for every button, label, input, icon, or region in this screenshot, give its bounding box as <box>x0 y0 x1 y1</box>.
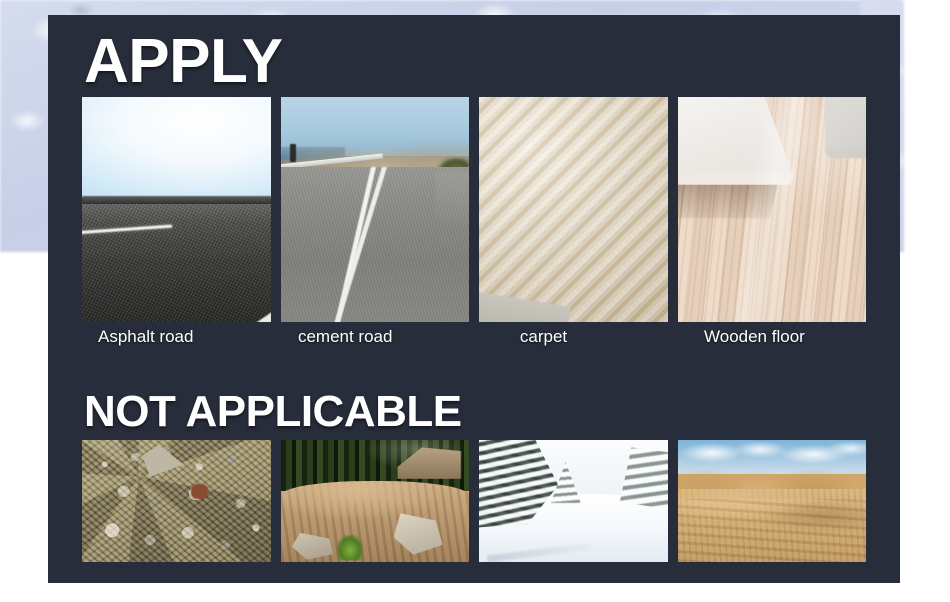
desert-sand-photo <box>678 440 867 562</box>
gravel-texture <box>82 440 271 562</box>
asphalt-sky <box>82 97 271 198</box>
label-asphalt-road: Asphalt road <box>82 327 272 355</box>
gravel-rust-spot <box>191 484 208 499</box>
sand-ripples <box>678 499 867 562</box>
carpet-shading <box>479 97 668 322</box>
apply-image-row <box>82 97 866 322</box>
apply-not-applicable-panel: APPLY <box>48 15 900 583</box>
not-applicable-image-row <box>82 440 866 562</box>
not-applicable-section-title: NOT APPLICABLE <box>84 390 462 434</box>
label-cement-road: cement road <box>282 327 472 355</box>
cement-shoulder <box>435 171 469 225</box>
forest-weed-clump <box>337 535 363 559</box>
apply-label-row: Asphalt road cement road carpet Wooden f… <box>82 327 872 355</box>
asphalt-road-photo <box>82 97 271 322</box>
label-carpet: carpet <box>482 327 672 355</box>
cement-signpost <box>290 144 296 162</box>
gravel-rubble-photo <box>82 440 271 562</box>
forest-dirt-track-photo <box>281 440 470 562</box>
asphalt-surface <box>82 204 271 322</box>
sand-clouds <box>678 442 867 469</box>
carpet-photo <box>479 97 668 322</box>
apply-section-title: APPLY <box>84 31 283 93</box>
cement-road-photo <box>281 97 470 322</box>
wood-gloss-reflection <box>678 97 867 322</box>
wooden-floor-photo <box>678 97 867 322</box>
label-wooden-floor: Wooden floor <box>682 327 872 355</box>
snow-forest-photo <box>479 440 668 562</box>
